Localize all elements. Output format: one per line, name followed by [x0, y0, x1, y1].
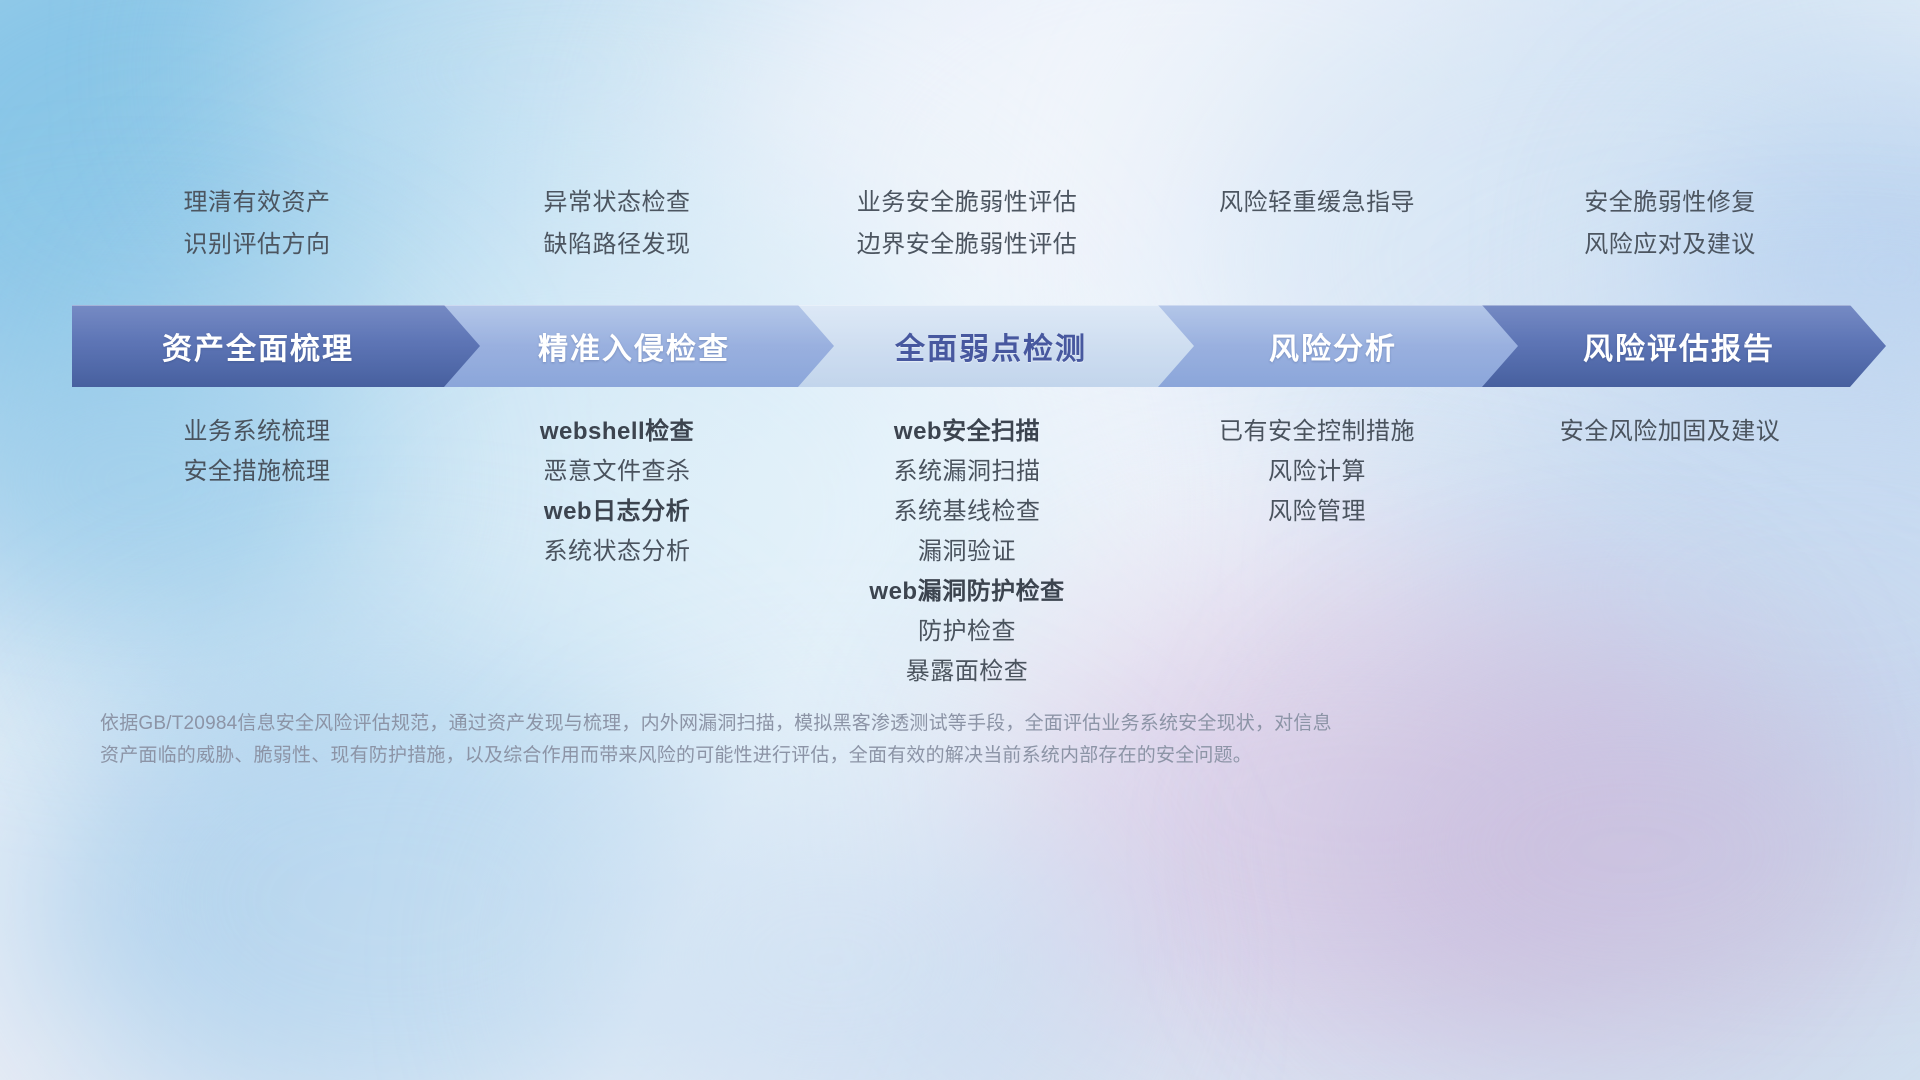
bottom-list-item: webshell检查 — [442, 412, 792, 452]
top-list-item: 边界安全脆弱性评估 — [792, 224, 1142, 266]
bottom-list-item: 暴露面检查 — [792, 652, 1142, 692]
top-list-item: 理清有效资产 — [72, 182, 442, 224]
bottom-list-5: 安全风险加固及建议 — [1492, 412, 1848, 692]
bottom-list-2: webshell检查恶意文件查杀web日志分析系统状态分析 — [442, 412, 792, 692]
top-list-item: 识别评估方向 — [72, 224, 442, 266]
top-list-item: 风险应对及建议 — [1492, 224, 1848, 266]
bottom-list-item: 漏洞验证 — [792, 532, 1142, 572]
stage-chevron-1[interactable]: 资产全面梳理 — [72, 305, 480, 387]
bottom-detail-row: 业务系统梳理安全措施梳理webshell检查恶意文件查杀web日志分析系统状态分… — [72, 412, 1848, 692]
bottom-list-item: 安全风险加固及建议 — [1492, 412, 1848, 452]
stage-title: 精准入侵检查 — [538, 324, 730, 368]
bottom-list-item: 防护检查 — [792, 612, 1142, 652]
footer-line-2: 资产面临的威胁、脆弱性、现有防护措施，以及综合作用而带来风险的可能性进行评估，全… — [100, 740, 1600, 772]
top-list-5: 安全脆弱性修复风险应对及建议 — [1492, 182, 1848, 266]
footer-line-1: 依据GB/T20984信息安全风险评估规范，通过资产发现与梳理，内外网漏洞扫描，… — [100, 708, 1600, 740]
bottom-list-4: 已有安全控制措施风险计算风险管理 — [1142, 412, 1492, 692]
process-diagram: 理清有效资产识别评估方向异常状态检查缺陷路径发现业务安全脆弱性评估边界安全脆弱性… — [0, 0, 1920, 1080]
top-list-item: 缺陷路径发现 — [442, 224, 792, 266]
stage-chevron-5[interactable]: 风险评估报告 — [1472, 305, 1886, 387]
bottom-list-item: 系统基线检查 — [792, 492, 1142, 532]
top-list-item: 异常状态检查 — [442, 182, 792, 224]
bottom-list-item: 安全措施梳理 — [72, 452, 442, 492]
stage-chevron-4[interactable]: 风险分析 — [1148, 305, 1518, 387]
bottom-list-item: 恶意文件查杀 — [442, 452, 792, 492]
top-list-1: 理清有效资产识别评估方向 — [72, 182, 442, 266]
top-list-item: 风险轻重缓急指导 — [1142, 182, 1492, 224]
top-list-4: 风险轻重缓急指导 — [1142, 182, 1492, 266]
bottom-list-item: web安全扫描 — [792, 412, 1142, 452]
stage-chevron-3[interactable]: 全面弱点检测 — [788, 305, 1194, 387]
stage-chevron-2[interactable]: 精准入侵检查 — [434, 305, 834, 387]
stage-title: 风险评估报告 — [1583, 324, 1775, 368]
stage-title: 风险分析 — [1269, 324, 1397, 368]
bottom-list-item: 系统漏洞扫描 — [792, 452, 1142, 492]
bottom-list-3: web安全扫描系统漏洞扫描系统基线检查漏洞验证web漏洞防护检查防护检查暴露面检… — [792, 412, 1142, 692]
bottom-list-item: 已有安全控制措施 — [1142, 412, 1492, 452]
bottom-list-item: 风险计算 — [1142, 452, 1492, 492]
footer-description: 依据GB/T20984信息安全风险评估规范，通过资产发现与梳理，内外网漏洞扫描，… — [100, 708, 1600, 772]
bottom-list-item: 系统状态分析 — [442, 532, 792, 572]
bottom-list-item: 风险管理 — [1142, 492, 1492, 532]
top-list-item: 安全脆弱性修复 — [1492, 182, 1848, 224]
stage-title: 全面弱点检测 — [895, 324, 1087, 368]
bottom-list-item: web漏洞防护检查 — [792, 572, 1142, 612]
top-list-2: 异常状态检查缺陷路径发现 — [442, 182, 792, 266]
bottom-list-item: 业务系统梳理 — [72, 412, 442, 452]
top-list-item: 业务安全脆弱性评估 — [792, 182, 1142, 224]
bottom-list-item: web日志分析 — [442, 492, 792, 532]
stage-chevron-band: 资产全面梳理精准入侵检查全面弱点检测风险分析风险评估报告 — [72, 305, 1850, 387]
top-descriptor-row: 理清有效资产识别评估方向异常状态检查缺陷路径发现业务安全脆弱性评估边界安全脆弱性… — [72, 182, 1848, 266]
stage-title: 资产全面梳理 — [162, 324, 354, 368]
bottom-list-1: 业务系统梳理安全措施梳理 — [72, 412, 442, 692]
top-list-3: 业务安全脆弱性评估边界安全脆弱性评估 — [792, 182, 1142, 266]
